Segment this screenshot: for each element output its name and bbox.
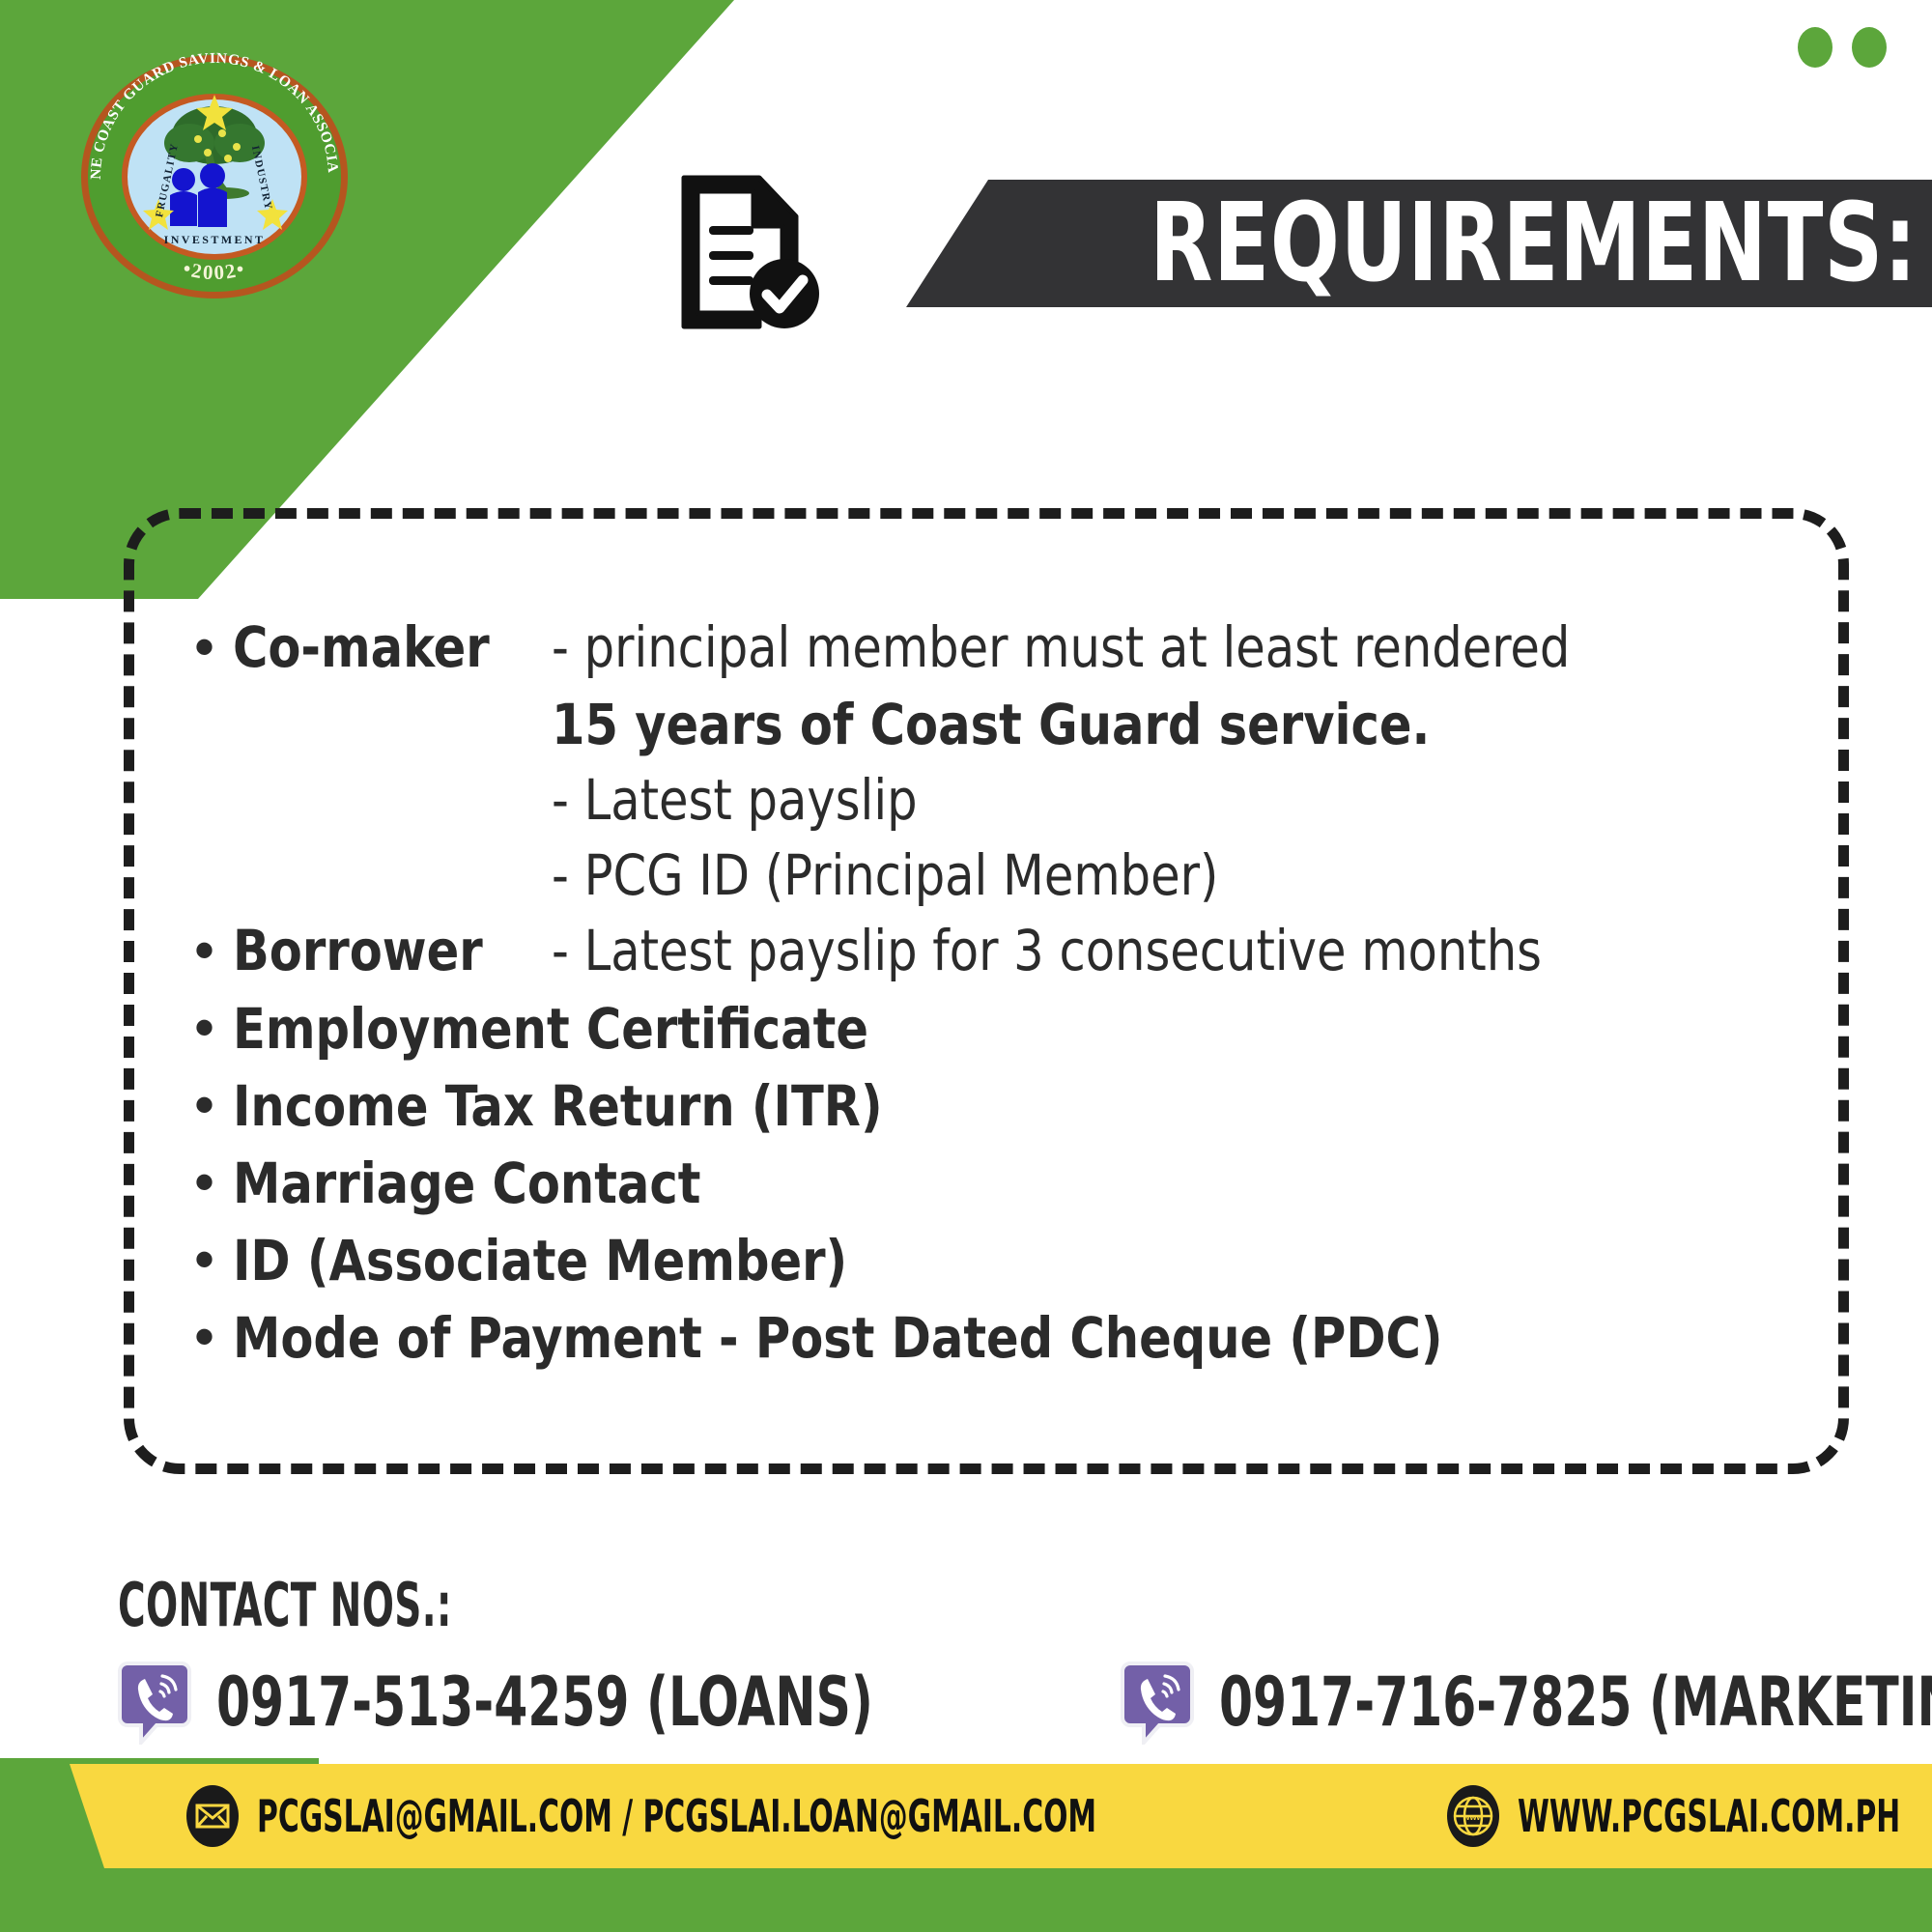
bullet-icon: • (194, 1222, 233, 1297)
globe-icon: www (1446, 1784, 1500, 1848)
footer-contacts: PCGSLAI@GMAIL.COM / PCGSLAI.LOAN@GMAIL.C… (0, 1764, 1932, 1868)
phone-number-marketing: 0917-716-7825 (MARKETING) (1219, 1668, 1932, 1736)
bullet-icon: • (194, 990, 233, 1065)
requirement-subline: - PCG ID (Principal Member) (552, 838, 1741, 913)
requirement-subline: - Latest payslip (552, 762, 1741, 838)
requirements-banner: REQUIREMENTS: (906, 180, 1932, 307)
requirement-id-associate-member: ID (Associate Member) (233, 1222, 847, 1299)
email-icon (185, 1784, 240, 1848)
requirement-income-tax-return: Income Tax Return (ITR) (233, 1067, 883, 1145)
requirement-subline: 15 years of Coast Guard service. (552, 687, 1741, 762)
dot-2 (1852, 27, 1887, 68)
bullet-icon: • (194, 610, 233, 685)
requirement-label-co-maker: Co-maker (233, 610, 536, 685)
footer-email[interactable]: PCGSLAI@GMAIL.COM / PCGSLAI.LOAN@GMAIL.C… (185, 1784, 1423, 1848)
list-item: • Borrower - Latest payslip for 3 consec… (194, 913, 1804, 988)
svg-text:www: www (1463, 1812, 1485, 1822)
viber-icon (1121, 1660, 1194, 1745)
requirement-marriage-contact: Marriage Contact (233, 1145, 700, 1222)
contact-phone-loans[interactable]: 0917-513-4259 (LOANS) (118, 1660, 1037, 1745)
logo-word-investment: INVESTMENT (164, 233, 266, 246)
list-item: • Employment Certificate (194, 990, 1804, 1067)
footer-website[interactable]: www WWW.PCGSLAI.COM.PH (1446, 1784, 1932, 1848)
list-item: • ID (Associate Member) (194, 1222, 1804, 1299)
contact-numbers: 0917-513-4259 (LOANS) 0917-716-7825 (MAR… (118, 1660, 1932, 1745)
bullet-icon: • (194, 1067, 233, 1143)
poster-canvas: PHILIPPINE COAST GUARD SAVINGS & LOAN AS… (0, 0, 1932, 1932)
requirement-mode-of-payment: Mode of Payment - Post Dated Cheque (PDC… (233, 1299, 1443, 1377)
decorative-dots (1798, 27, 1887, 68)
contact-phone-marketing[interactable]: 0917-716-7825 (MARKETING) (1121, 1660, 1932, 1745)
footer-website-text: WWW.PCGSLAI.COM.PH (1518, 1794, 1900, 1838)
page-title: REQUIREMENTS: (1150, 189, 1932, 298)
list-item: • Marriage Contact (194, 1145, 1804, 1222)
pcgslai-logo: PHILIPPINE COAST GUARD SAVINGS & LOAN AS… (70, 50, 359, 303)
requirement-employment-certificate: Employment Certificate (233, 990, 868, 1067)
bullet-icon: • (194, 1299, 233, 1375)
viber-icon (118, 1660, 191, 1745)
footer-email-text: PCGSLAI@GMAIL.COM / PCGSLAI.LOAN@GMAIL.C… (257, 1794, 1096, 1838)
bullet-icon: • (194, 1145, 233, 1220)
list-item: • Mode of Payment - Post Dated Cheque (P… (194, 1299, 1804, 1377)
list-item: • Co-maker - principal member must at le… (194, 610, 1804, 685)
requirement-desc-co-maker: - principal member must at least rendere… (552, 610, 1570, 685)
requirements-box: • Co-maker - principal member must at le… (124, 508, 1849, 1474)
document-check-icon (676, 172, 831, 336)
requirements-list: • Co-maker - principal member must at le… (194, 610, 1804, 1377)
bullet-icon: • (194, 913, 233, 988)
list-item: • Income Tax Return (ITR) (194, 1067, 1804, 1145)
requirement-desc-borrower: - Latest payslip for 3 consecutive month… (552, 913, 1542, 988)
phone-number-loans: 0917-513-4259 (LOANS) (216, 1668, 873, 1736)
requirement-label-borrower: Borrower (233, 913, 536, 988)
contact-heading: CONTACT NOS.: (118, 1570, 452, 1640)
dot-1 (1798, 27, 1833, 68)
